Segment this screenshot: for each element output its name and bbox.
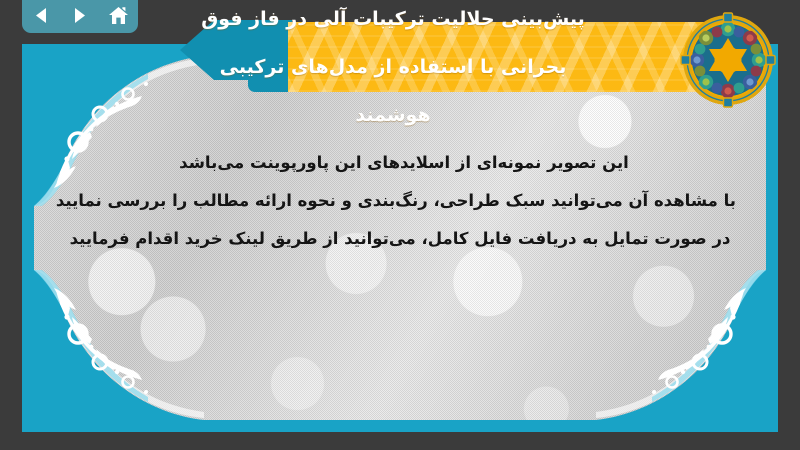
triangle-right-icon	[70, 6, 89, 25]
persian-medallion-icon	[676, 8, 780, 112]
slide-body-text: این تصویر نمونه‌ای از اسلایدهای این پاور…	[64, 144, 736, 258]
filigree-corner-ornament	[596, 270, 766, 420]
filigree-corner-ornament	[34, 270, 204, 420]
title-line-2: بحرانی با استفاده از مدل‌های ترکیبی	[0, 55, 786, 79]
home-icon	[108, 5, 129, 26]
triangle-left-icon	[32, 6, 51, 25]
slide-viewer: این تصویر نمونه‌ای از اسلایدهای این پاور…	[0, 0, 800, 450]
previous-slide-button[interactable]	[28, 2, 54, 28]
body-line-3: در صورت تمایل به دریافت فایل کامل، می‌تو…	[64, 220, 736, 258]
next-slide-button[interactable]	[67, 2, 93, 28]
navigation-bar	[22, 0, 138, 33]
home-button[interactable]	[106, 2, 132, 28]
body-line-2: با مشاهده آن می‌توانید سبک طراحی، رنگ‌بن…	[64, 182, 736, 220]
title-line-3: هوشمند	[0, 103, 786, 127]
